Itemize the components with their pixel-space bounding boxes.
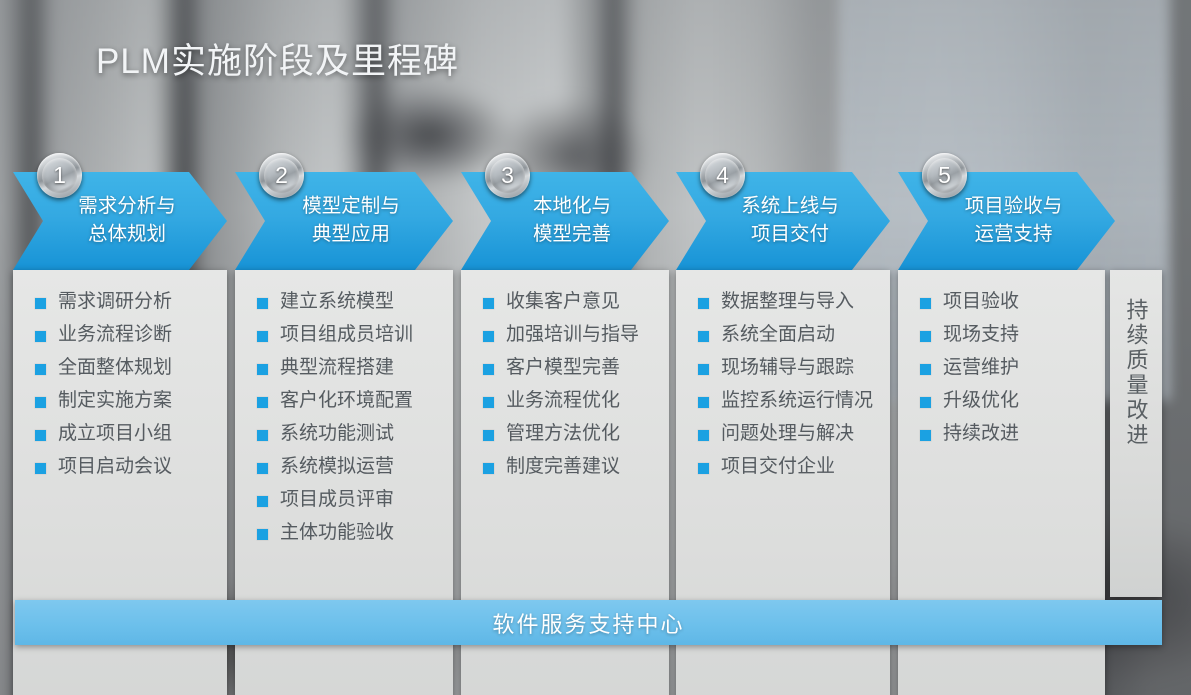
- list-item-label: 项目交付企业: [721, 457, 835, 477]
- continuous-quality-panel: 持续质量改进: [1110, 270, 1162, 597]
- square-bullet-icon: [483, 397, 494, 408]
- list-item-label: 项目成员评审: [280, 490, 394, 510]
- list-item[interactable]: 收集客户意见: [461, 292, 669, 312]
- stage-header-label-5: 项目验收与 运营支持: [951, 193, 1063, 248]
- list-item[interactable]: 建立系统模型: [235, 292, 453, 312]
- stage-header-label-4: 系统上线与 项目交付: [727, 193, 839, 248]
- list-item-label: 数据整理与导入: [721, 292, 854, 312]
- list-item[interactable]: 管理方法优化: [461, 424, 669, 444]
- square-bullet-icon: [257, 331, 268, 342]
- square-bullet-icon: [257, 430, 268, 441]
- list-item-label: 系统功能测试: [280, 424, 394, 444]
- square-bullet-icon: [920, 331, 931, 342]
- square-bullet-icon: [920, 430, 931, 441]
- list-item-label: 升级优化: [943, 391, 1019, 411]
- square-bullet-icon: [257, 496, 268, 507]
- list-item[interactable]: 客户化环境配置: [235, 391, 453, 411]
- list-item-label: 监控系统运行情况: [721, 391, 873, 411]
- list-item-label: 成立项目小组: [58, 424, 172, 444]
- square-bullet-icon: [920, 364, 931, 375]
- square-bullet-icon: [698, 364, 709, 375]
- stage-task-list-1: 需求调研分析业务流程诊断全面整体规划制定实施方案成立项目小组项目启动会议: [13, 270, 227, 500]
- square-bullet-icon: [257, 298, 268, 309]
- stage-task-list-3: 收集客户意见加强培训与指导客户模型完善业务流程优化管理方法优化制度完善建议: [461, 270, 669, 500]
- list-item-label: 系统模拟运营: [280, 457, 394, 477]
- list-item[interactable]: 数据整理与导入: [676, 292, 890, 312]
- list-item-label: 项目验收: [943, 292, 1019, 312]
- support-center-label: 软件服务支持中心: [492, 607, 684, 639]
- square-bullet-icon: [483, 463, 494, 474]
- list-item[interactable]: 项目交付企业: [676, 457, 890, 477]
- list-item-label: 收集客户意见: [506, 292, 620, 312]
- list-item[interactable]: 升级优化: [898, 391, 1105, 411]
- list-item[interactable]: 系统全面启动: [676, 325, 890, 345]
- continuous-quality-label: 持续质量改进: [1124, 298, 1147, 448]
- list-item-label: 加强培训与指导: [506, 325, 639, 345]
- list-item[interactable]: 现场辅导与跟踪: [676, 358, 890, 378]
- list-item[interactable]: 现场支持: [898, 325, 1105, 345]
- stage-number-3: 3: [501, 162, 514, 189]
- square-bullet-icon: [35, 397, 46, 408]
- square-bullet-icon: [483, 331, 494, 342]
- list-item-label: 现场辅导与跟踪: [721, 358, 854, 378]
- stage-number-badge-1: 1: [37, 153, 82, 198]
- stage-number-4: 4: [716, 162, 729, 189]
- page-title: PLM实施阶段及里程碑: [96, 33, 459, 84]
- square-bullet-icon: [698, 397, 709, 408]
- list-item[interactable]: 项目启动会议: [13, 457, 227, 477]
- list-item-label: 运营维护: [943, 358, 1019, 378]
- list-item[interactable]: 主体功能验收: [235, 523, 453, 543]
- list-item-label: 系统全面启动: [721, 325, 835, 345]
- square-bullet-icon: [698, 430, 709, 441]
- stage-number-5: 5: [938, 162, 951, 189]
- list-item-label: 管理方法优化: [506, 424, 620, 444]
- list-item[interactable]: 持续改进: [898, 424, 1105, 444]
- list-item[interactable]: 典型流程搭建: [235, 358, 453, 378]
- support-center-bar: 软件服务支持中心: [15, 600, 1162, 645]
- stage-number-2: 2: [275, 162, 288, 189]
- list-item[interactable]: 项目组成员培训: [235, 325, 453, 345]
- square-bullet-icon: [35, 298, 46, 309]
- list-item-label: 建立系统模型: [280, 292, 394, 312]
- stage-number-badge-3: 3: [485, 153, 530, 198]
- square-bullet-icon: [483, 364, 494, 375]
- stage-task-list-5: 项目验收现场支持运营维护升级优化持续改进: [898, 270, 1105, 467]
- list-item[interactable]: 问题处理与解决: [676, 424, 890, 444]
- list-item[interactable]: 业务流程诊断: [13, 325, 227, 345]
- list-item-label: 持续改进: [943, 424, 1019, 444]
- stage-header-label-2: 模型定制与 典型应用: [288, 193, 400, 248]
- stage-number-badge-4: 4: [700, 153, 745, 198]
- list-item-label: 客户化环境配置: [280, 391, 413, 411]
- list-item-label: 需求调研分析: [58, 292, 172, 312]
- list-item-label: 业务流程优化: [506, 391, 620, 411]
- list-item-label: 项目启动会议: [58, 457, 172, 477]
- list-item-label: 全面整体规划: [58, 358, 172, 378]
- list-item[interactable]: 客户模型完善: [461, 358, 669, 378]
- square-bullet-icon: [257, 397, 268, 408]
- list-item-label: 制度完善建议: [506, 457, 620, 477]
- list-item[interactable]: 运营维护: [898, 358, 1105, 378]
- list-item-label: 客户模型完善: [506, 358, 620, 378]
- square-bullet-icon: [483, 430, 494, 441]
- square-bullet-icon: [257, 463, 268, 474]
- stage-number-1: 1: [53, 162, 66, 189]
- square-bullet-icon: [698, 331, 709, 342]
- square-bullet-icon: [920, 298, 931, 309]
- square-bullet-icon: [35, 364, 46, 375]
- list-item-label: 问题处理与解决: [721, 424, 854, 444]
- stage-task-list-4: 数据整理与导入系统全面启动现场辅导与跟踪监控系统运行情况问题处理与解决项目交付企…: [676, 270, 890, 500]
- stage-header-label-1: 需求分析与 总体规划: [64, 193, 176, 248]
- square-bullet-icon: [920, 397, 931, 408]
- list-item-label: 业务流程诊断: [58, 325, 172, 345]
- square-bullet-icon: [698, 298, 709, 309]
- stage-number-badge-2: 2: [259, 153, 304, 198]
- square-bullet-icon: [35, 463, 46, 474]
- list-item-label: 典型流程搭建: [280, 358, 394, 378]
- list-item[interactable]: 监控系统运行情况: [676, 391, 890, 411]
- square-bullet-icon: [35, 331, 46, 342]
- list-item[interactable]: 需求调研分析: [13, 292, 227, 312]
- list-item[interactable]: 成立项目小组: [13, 424, 227, 444]
- list-item[interactable]: 制定实施方案: [13, 391, 227, 411]
- list-item[interactable]: 制度完善建议: [461, 457, 669, 477]
- square-bullet-icon: [35, 430, 46, 441]
- list-item[interactable]: 加强培训与指导: [461, 325, 669, 345]
- list-item-label: 项目组成员培训: [280, 325, 413, 345]
- list-item-label: 制定实施方案: [58, 391, 172, 411]
- list-item[interactable]: 项目验收: [898, 292, 1105, 312]
- list-item[interactable]: 全面整体规划: [13, 358, 227, 378]
- square-bullet-icon: [257, 529, 268, 540]
- list-item[interactable]: 项目成员评审: [235, 490, 453, 510]
- list-item-label: 现场支持: [943, 325, 1019, 345]
- stage-header-label-3: 本地化与 模型完善: [519, 193, 611, 248]
- stage-task-list-2: 建立系统模型项目组成员培训典型流程搭建客户化环境配置系统功能测试系统模拟运营项目…: [235, 270, 453, 566]
- list-item[interactable]: 系统功能测试: [235, 424, 453, 444]
- list-item[interactable]: 业务流程优化: [461, 391, 669, 411]
- list-item-label: 主体功能验收: [280, 523, 394, 543]
- square-bullet-icon: [257, 364, 268, 375]
- square-bullet-icon: [698, 463, 709, 474]
- list-item[interactable]: 系统模拟运营: [235, 457, 453, 477]
- stage-number-badge-5: 5: [922, 153, 967, 198]
- square-bullet-icon: [483, 298, 494, 309]
